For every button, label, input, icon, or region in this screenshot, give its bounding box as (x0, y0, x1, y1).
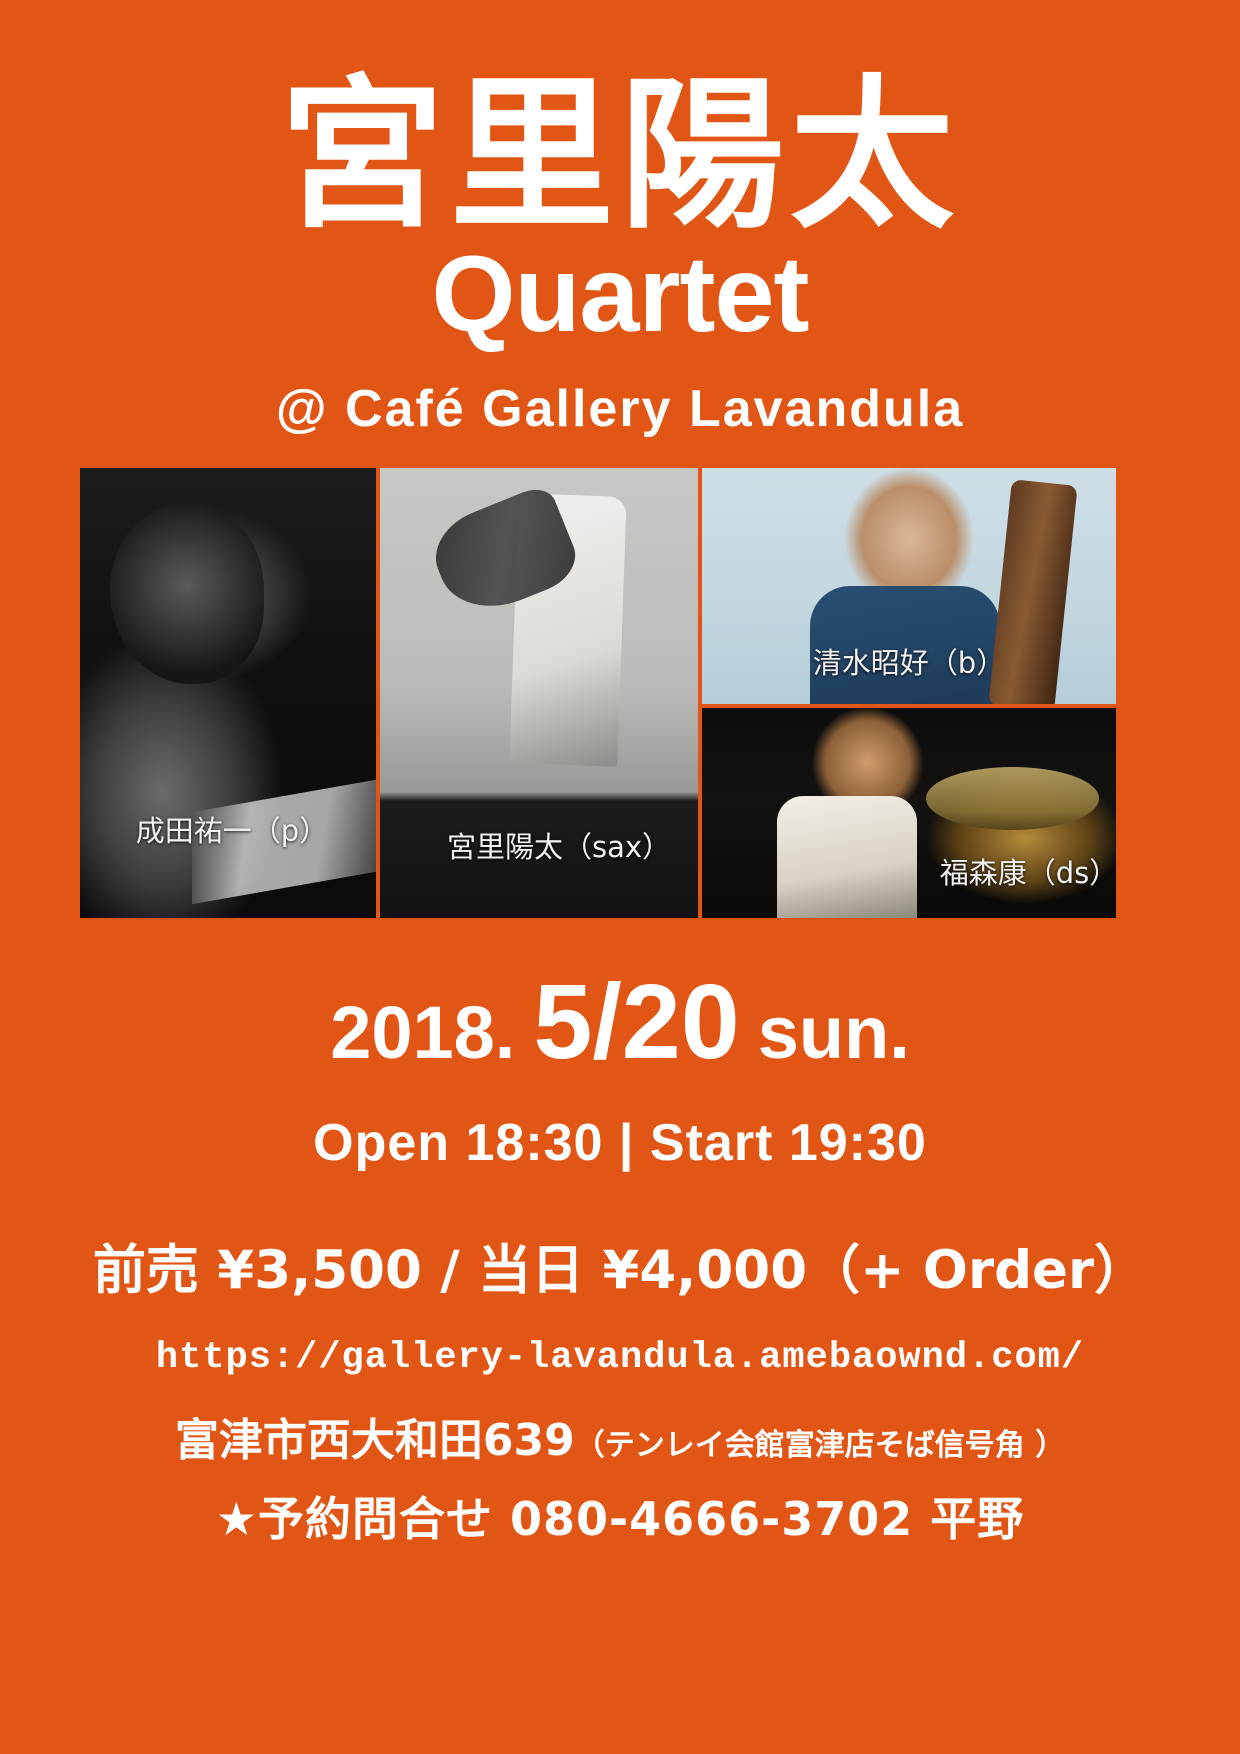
right-photo-column: 清水昭好（b） 福森康（ds） (702, 468, 1116, 918)
bassist-caption: 清水昭好（b） (702, 640, 1116, 682)
event-date: 2018.5/20sun. (0, 962, 1240, 1083)
ticket-price: 前売 ¥3,500 / 当日 ¥4,000（+ Order） (0, 1228, 1240, 1304)
reservation-contact: ★予約問合せ 080-4666-3702 平野 (0, 1483, 1240, 1549)
address-sub: （テンレイ会館富津店そば信号角 ） (575, 1428, 1065, 1463)
drummer-caption: 福森康（ds） (702, 850, 1116, 892)
event-times: Open 18:30 | Start 19:30 (0, 1113, 1240, 1173)
website-url[interactable]: https://gallery-lavandula.amebaownd.com/ (0, 1337, 1240, 1379)
saxophonist-photo: 宮里陽太（sax） (380, 468, 698, 918)
venue-address: 富津市西大和田639（テンレイ会館富津店そば信号角 ） (0, 1404, 1240, 1468)
bassist-photo: 清水昭好（b） (702, 468, 1116, 704)
event-day-of-week: sun. (758, 991, 910, 1074)
musician-photo-collage: 成田祐一（p） 宮里陽太（sax） 清水昭好（b） 福森康（ds） (80, 468, 1116, 918)
drummer-photo: 福森康（ds） (702, 708, 1116, 918)
address-main: 富津市西大和田639 (175, 1415, 575, 1466)
saxophonist-caption: 宮里陽太（sax） (380, 824, 698, 866)
pianist-photo: 成田祐一（p） (80, 468, 376, 918)
artist-title-japanese: 宮里陽太 (0, 72, 1240, 239)
venue-name: @ Café Gallery Lavandula (0, 383, 1240, 435)
event-month-day: 5/20 (533, 963, 739, 1081)
group-title-english: Quartet (0, 240, 1240, 348)
event-year: 2018. (330, 991, 515, 1074)
pianist-image (80, 468, 376, 918)
pianist-caption: 成田祐一（p） (80, 808, 376, 850)
concert-poster: 宮里陽太 Quartet @ Café Gallery Lavandula 成田… (0, 0, 1240, 1754)
